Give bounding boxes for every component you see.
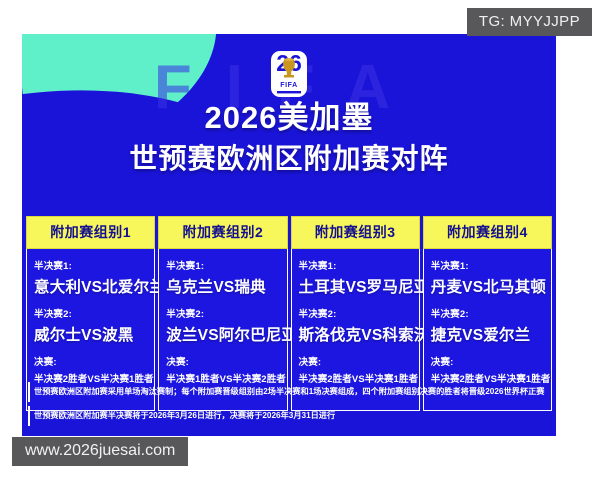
page-subtitle: 世预赛欧洲区附加赛对阵 xyxy=(22,142,556,176)
semifinal2-match: 威尔士VS波黑 xyxy=(34,323,147,345)
final-label: 决赛: xyxy=(431,354,544,368)
semifinal2-match: 波兰VS阿尔巴尼亚 xyxy=(166,323,279,345)
footnote-format: 世预赛欧洲区附加赛采用单场淘汰赛制；每个附加赛晋级组别由2场半决赛和1场决赛组成… xyxy=(28,382,550,402)
final-label: 决赛: xyxy=(299,354,412,368)
semifinal2-label: 半决赛2: xyxy=(166,306,279,320)
fixture-poster: FIFA 26 FIFA 2026美加墨 世预赛欧洲区附加赛对阵 附加赛组别1 … xyxy=(22,34,556,436)
semifinal1-label: 半决赛1: xyxy=(299,258,412,272)
final-label: 决赛: xyxy=(34,354,147,368)
poster-heading: 2026美加墨 世预赛欧洲区附加赛对阵 xyxy=(22,34,556,176)
semifinal2-label: 半决赛2: xyxy=(34,306,147,320)
site-watermark: www.2026juesai.com xyxy=(12,437,188,466)
group-header: 附加赛组别4 xyxy=(423,216,552,249)
footnotes: 世预赛欧洲区附加赛采用单场淘汰赛制；每个附加赛晋级组别由2场半决赛和1场决赛组成… xyxy=(22,382,556,430)
semifinal1-label: 半决赛1: xyxy=(431,258,544,272)
tg-handle-badge: TG: MYYJJPP xyxy=(467,8,592,36)
group-header: 附加赛组别3 xyxy=(291,216,420,249)
group-header: 附加赛组别1 xyxy=(26,216,155,249)
semifinal2-label: 半决赛2: xyxy=(299,306,412,320)
group-header: 附加赛组别2 xyxy=(158,216,287,249)
semifinal1-label: 半决赛1: xyxy=(166,258,279,272)
semifinal1-match: 乌克兰VS瑞典 xyxy=(166,275,279,297)
semifinal1-match: 丹麦VS北马其顿 xyxy=(431,275,544,297)
semifinal2-label: 半决赛2: xyxy=(431,306,544,320)
semifinal1-match: 土耳其VS罗马尼亚 xyxy=(299,275,412,297)
screenshot-root: TG: MYYJJPP FIFA 26 FIFA 2026美加墨 世预赛欧洲区附… xyxy=(0,0,600,480)
semifinal1-match: 意大利VS北爱尔兰 xyxy=(34,275,147,297)
footnote-dates: 世预赛欧洲区附加赛半决赛将于2026年3月26日进行，决赛将于2026年3月31… xyxy=(28,406,550,426)
semifinal2-match: 斯洛伐克VS科索沃 xyxy=(299,323,412,345)
page-title: 2026美加墨 xyxy=(22,100,556,136)
final-label: 决赛: xyxy=(166,354,279,368)
semifinal1-label: 半决赛1: xyxy=(34,258,147,272)
semifinal2-match: 捷克VS爱尔兰 xyxy=(431,323,544,345)
